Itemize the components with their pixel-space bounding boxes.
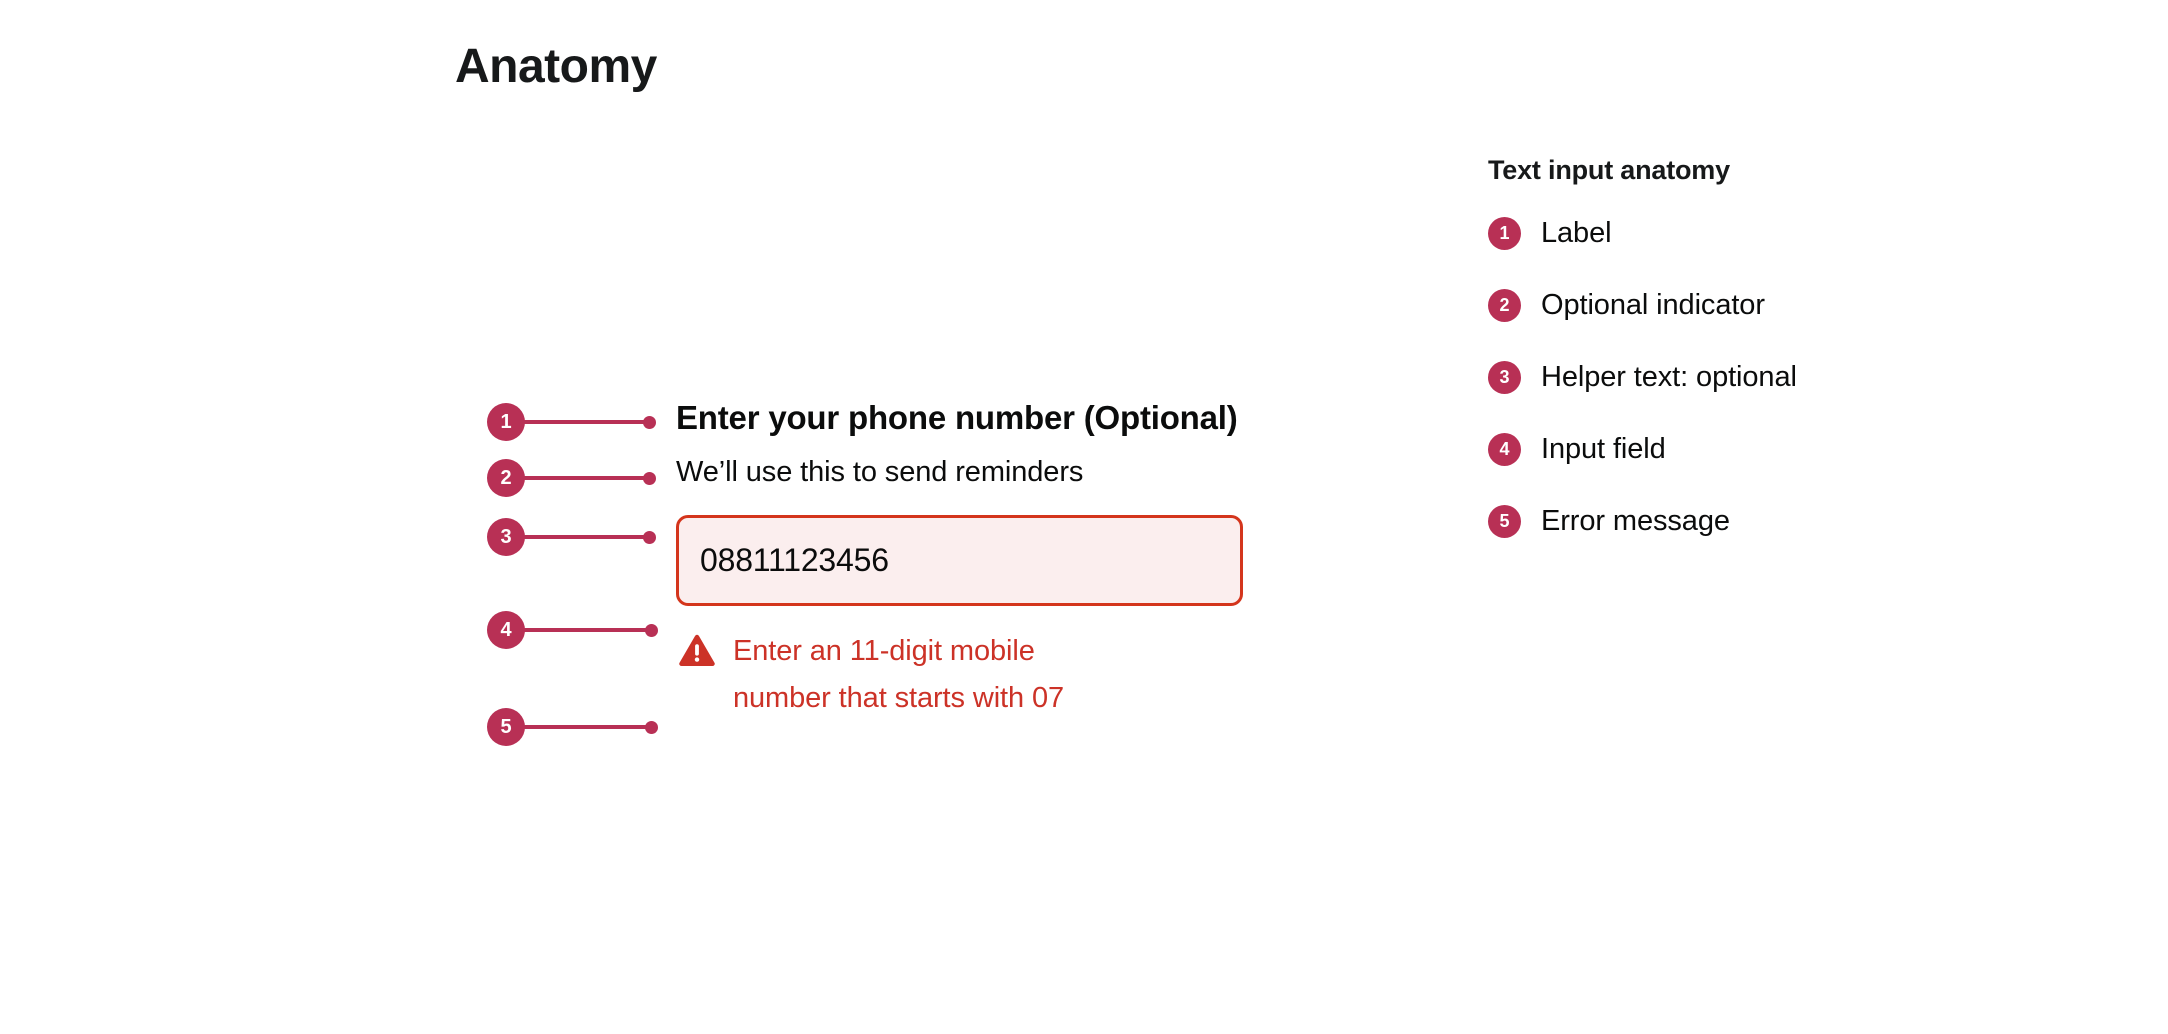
callout-badge-1: 1 — [487, 403, 525, 441]
callout-dot-3 — [643, 531, 656, 544]
anatomy-legend: Text input anatomy 1 Label 2 Optional in… — [1488, 155, 2108, 567]
legend-badge-1: 1 — [1488, 217, 1521, 250]
legend-badge-5: 5 — [1488, 505, 1521, 538]
legend-item-helper-text: 3 Helper text: optional — [1488, 351, 2108, 403]
callout-badge-2: 2 — [487, 459, 525, 497]
phone-number-hint: We’ll use this to send reminders — [676, 450, 1256, 494]
callout-line-3 — [523, 535, 647, 539]
callout-line-4 — [523, 628, 649, 632]
phone-number-error-text: Enter an 11-digit mobile number that sta… — [733, 628, 1105, 722]
callout-5-error-message: 5 — [487, 707, 658, 747]
callout-badge-4: 4 — [487, 611, 525, 649]
callout-1-label: 1 — [487, 402, 656, 442]
callout-2-optional-indicator: 2 — [487, 458, 656, 498]
legend-label-2: Optional indicator — [1541, 289, 1765, 322]
callout-dot-5 — [645, 721, 658, 734]
callout-badge-3: 3 — [487, 518, 525, 556]
warning-triangle-icon — [677, 631, 717, 671]
legend-title: Text input anatomy — [1488, 155, 2108, 186]
callout-line-2 — [523, 476, 647, 480]
phone-number-form-group: Enter your phone number (Optional) We’ll… — [676, 390, 1256, 722]
legend-badge-3: 3 — [1488, 361, 1521, 394]
legend-label-3: Helper text: optional — [1541, 361, 1797, 394]
legend-item-label: 1 Label — [1488, 207, 2108, 259]
legend-badge-4: 4 — [1488, 433, 1521, 466]
legend-label-4: Input field — [1541, 433, 1666, 466]
legend-badge-2: 2 — [1488, 289, 1521, 322]
legend-label-5: Error message — [1541, 505, 1730, 538]
phone-number-error: Enter an 11-digit mobile number that sta… — [677, 628, 1256, 722]
legend-item-input-field: 4 Input field — [1488, 423, 2108, 475]
legend-item-error-message: 5 Error message — [1488, 495, 2108, 547]
phone-number-input[interactable] — [676, 515, 1243, 606]
legend-label-1: Label — [1541, 217, 1611, 250]
callout-line-1 — [523, 420, 647, 424]
callout-badge-5: 5 — [487, 708, 525, 746]
callout-4-input-field: 4 — [487, 610, 658, 650]
phone-number-label: Enter your phone number (Optional) — [676, 399, 1238, 436]
anatomy-diagram: 1 2 3 4 5 Enter your phone number (Optio… — [0, 0, 1440, 1034]
callout-3-hint: 3 — [487, 517, 656, 557]
callout-dot-2 — [643, 472, 656, 485]
legend-item-optional-indicator: 2 Optional indicator — [1488, 279, 2108, 331]
callout-dot-4 — [645, 624, 658, 637]
callout-line-5 — [523, 725, 649, 729]
callout-dot-1 — [643, 416, 656, 429]
